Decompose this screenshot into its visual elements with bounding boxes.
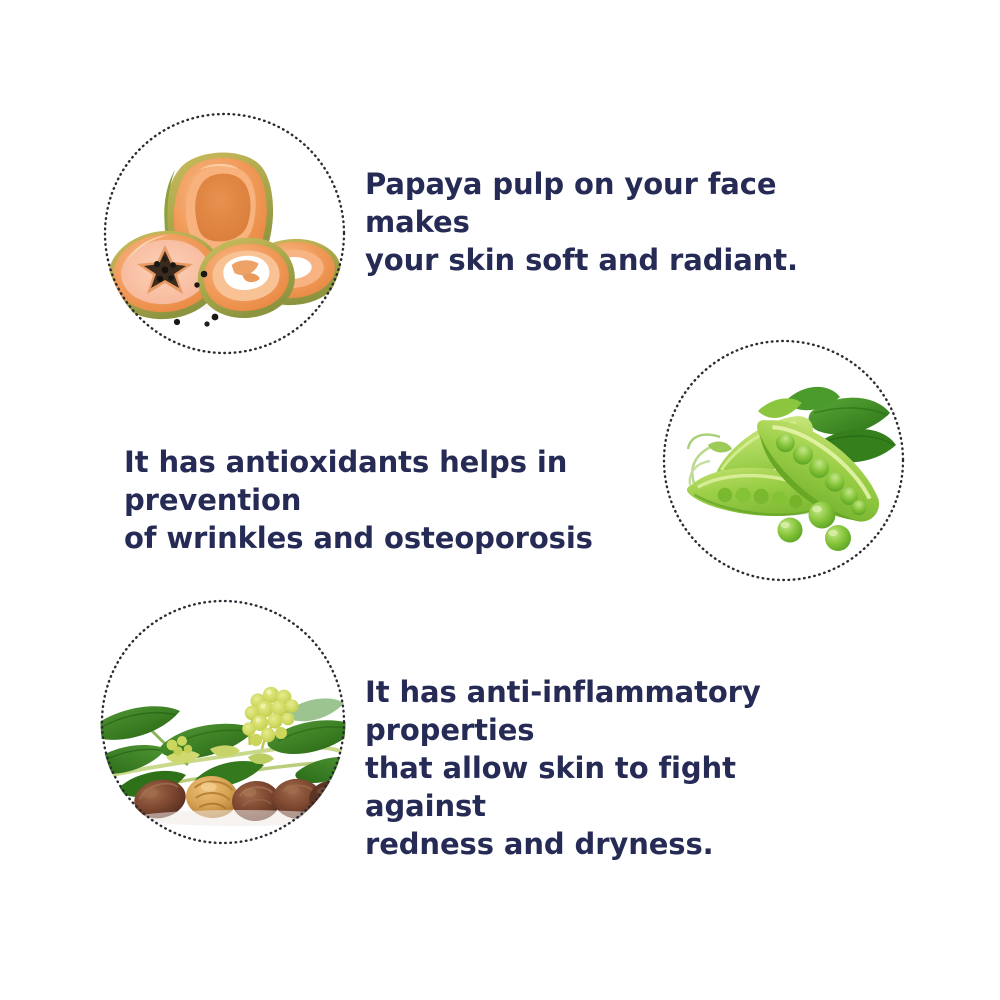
benefit-text-papaya-pulp: Papaya pulp on your face makes your skin…	[365, 165, 845, 279]
papaya-slices-photo	[103, 112, 346, 355]
infographic-canvas: Papaya pulp on your face makes your skin…	[0, 0, 1000, 1000]
papaya-medallion	[103, 112, 346, 355]
benefit-text-anti-inflammatory: It has anti-inflammatory properties that…	[365, 673, 855, 863]
peas-medallion	[662, 339, 905, 582]
benefit-text-antioxidants: It has antioxidants helps in prevention …	[124, 443, 654, 557]
jojoba-plant-photo	[100, 599, 346, 845]
green-peas-photo	[662, 339, 905, 582]
jojoba-medallion	[100, 599, 346, 845]
